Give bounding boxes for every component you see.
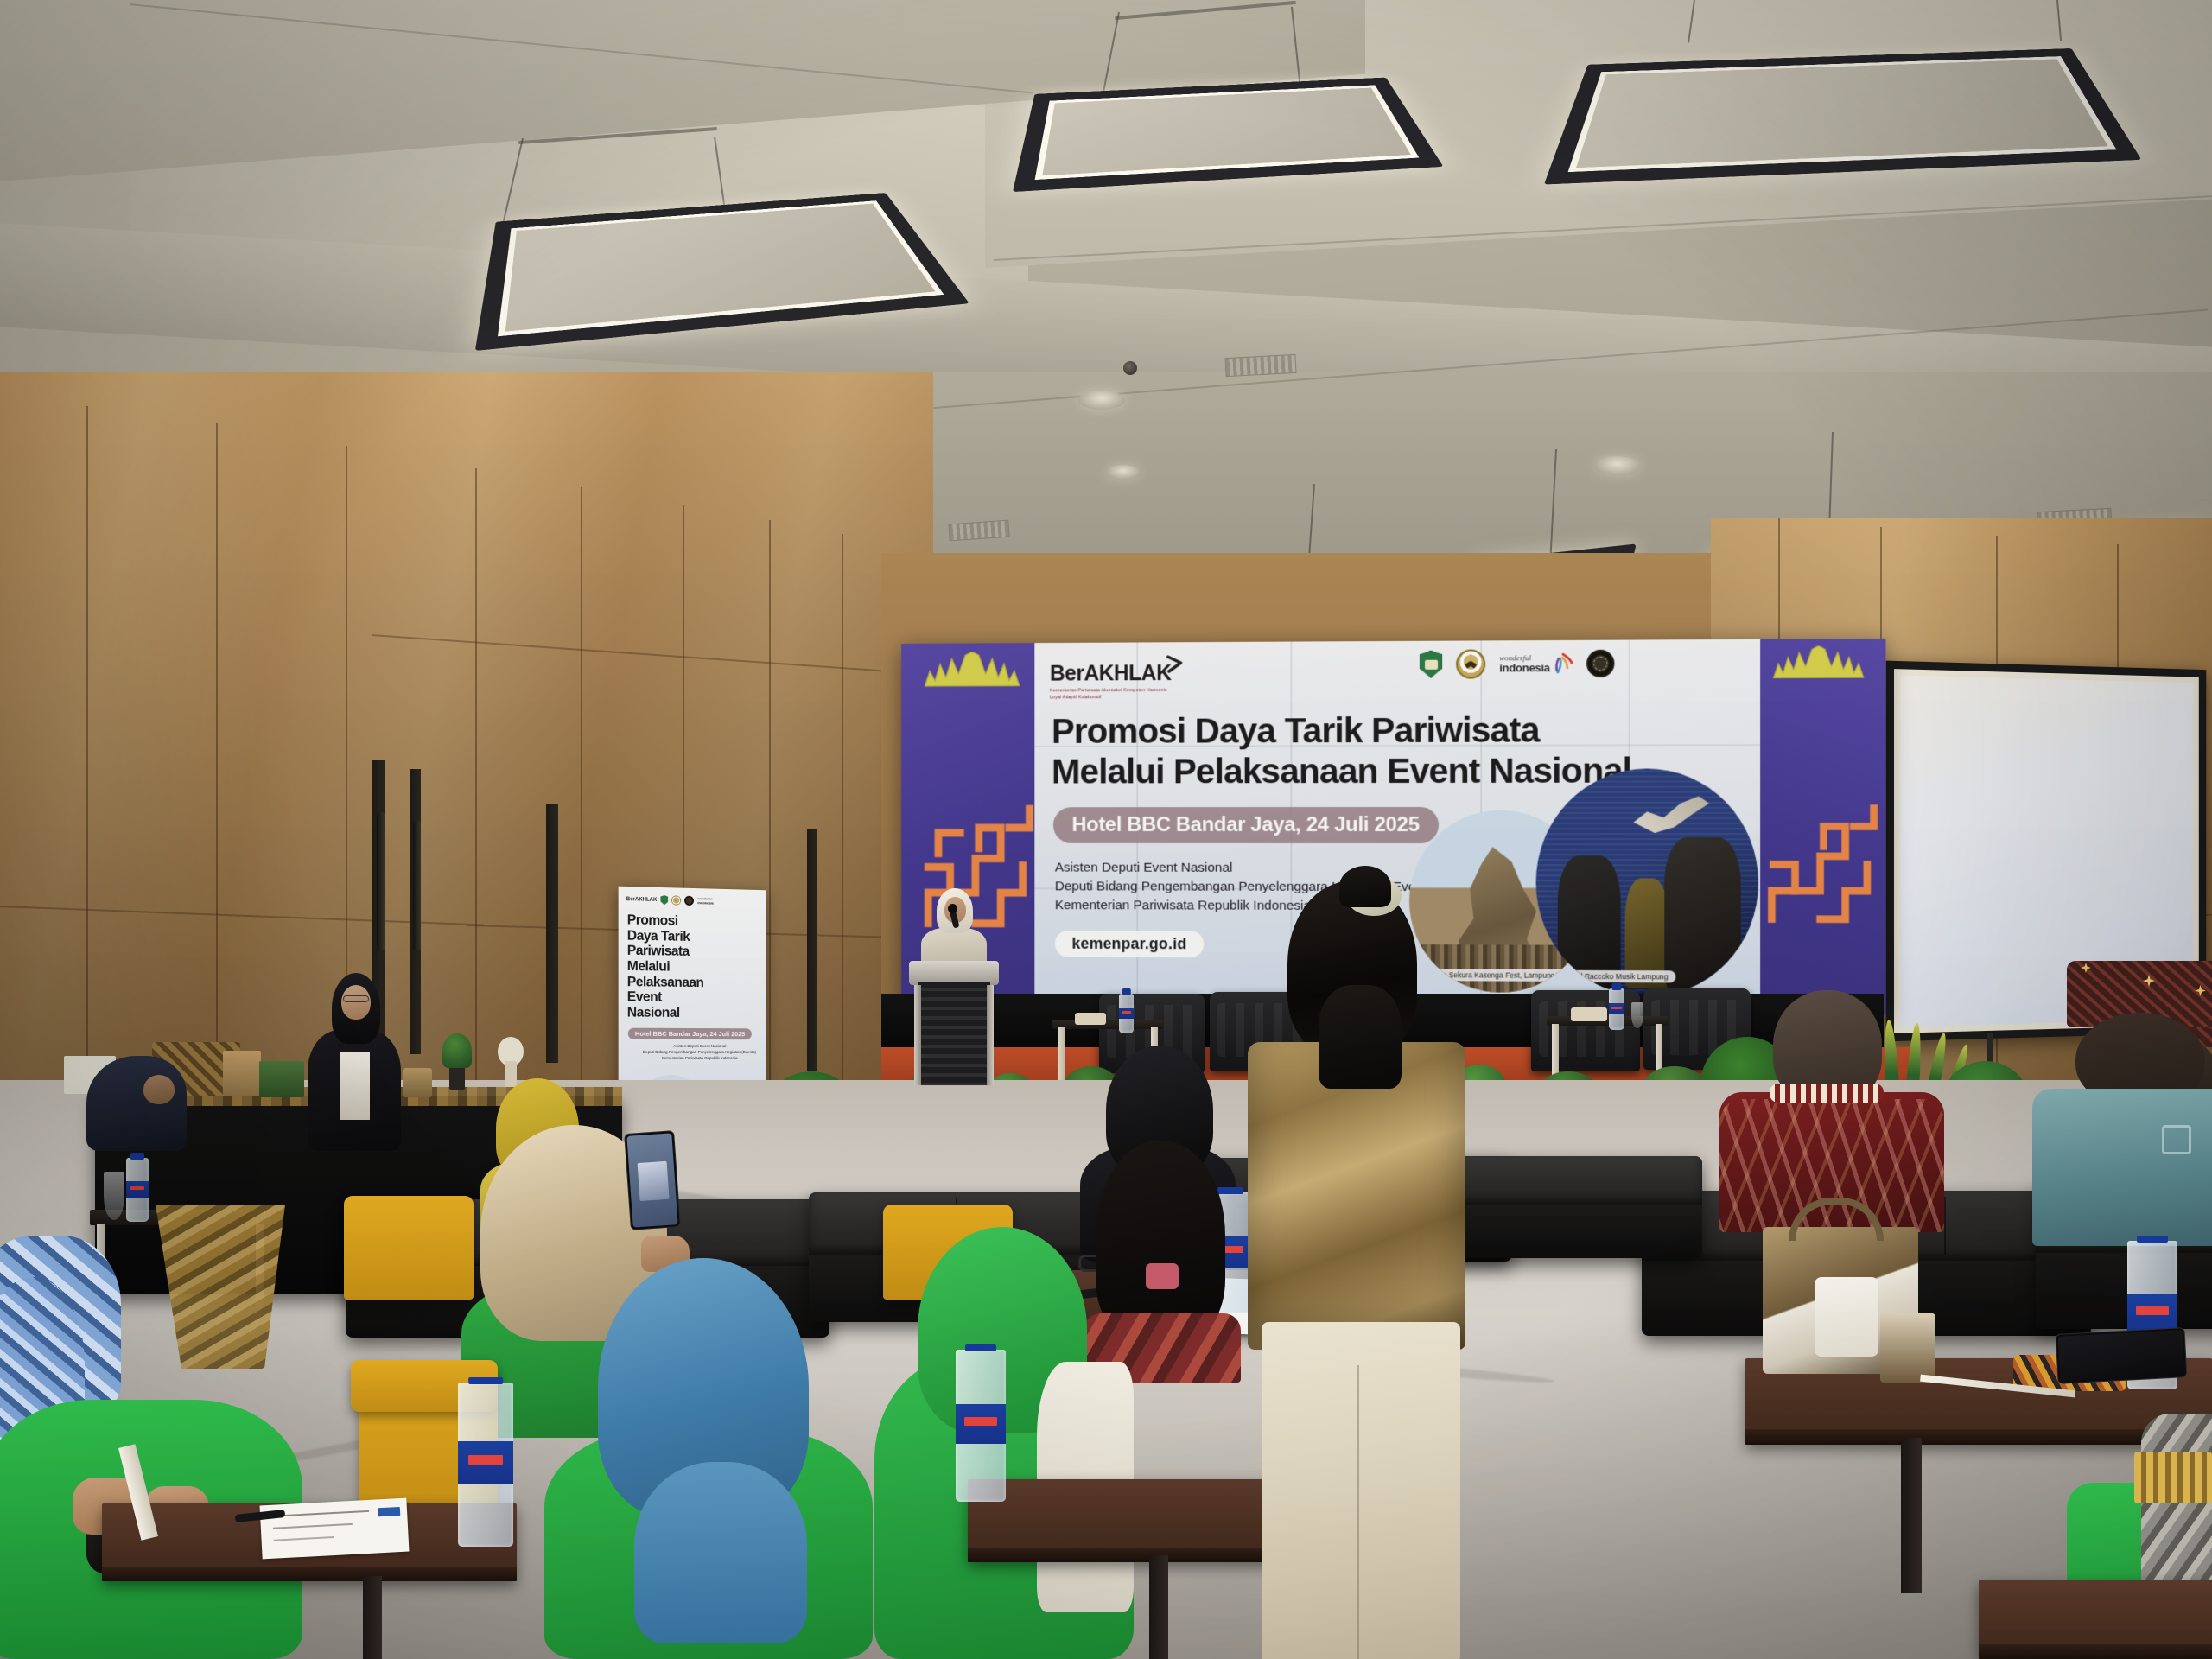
lampung-siger-crown-icon: [921, 652, 1022, 690]
banner-photo-raccoko-festival: Festival Raccoko Musik Lampung: [1536, 768, 1758, 997]
water-bottle[interactable]: [458, 1382, 513, 1547]
drinking-glass[interactable]: [104, 1172, 124, 1220]
wall-door-gap[interactable]: [546, 804, 558, 1063]
banner-title-line-1: Promosi Daya Tarik Pariwisata: [1052, 709, 1631, 751]
podium-body: [918, 982, 990, 1085]
registration-staff-bending: [86, 1039, 190, 1151]
attendee-teal-peci: [2032, 961, 2212, 1246]
ministry-seal-logo: [684, 896, 694, 906]
seminar-hall-photograph: BerAKHLAK Kementerian Pariwisata Akuntab…: [0, 0, 2212, 1659]
rollup-logo-row: BerAKHLAK wonderful indonesia: [626, 894, 714, 906]
recessed-downlight-icon: [1078, 391, 1125, 410]
water-bottle[interactable]: [1609, 988, 1624, 1030]
provincial-shield-logo: [1420, 651, 1442, 678]
berakhlak-logo: BerAKHLAK Kementerian Pariwisata Akuntab…: [1050, 661, 1171, 701]
trouser-crease: [1357, 1365, 1359, 1659]
notepad-paper[interactable]: [259, 1498, 409, 1560]
standing-woman-trousers: [1262, 1322, 1460, 1659]
wonderful-indonesia-bird-icon: [1554, 653, 1573, 674]
berakhlak-swoosh-icon: [1166, 655, 1184, 674]
wall-left-panel-seams: [0, 372, 933, 1149]
tapis-motif-icon: [1757, 792, 1882, 938]
shirt-emblem: [2162, 1125, 2191, 1154]
ministry-seal-logo: [1586, 650, 1614, 677]
attendee-maroon-batik: [1719, 990, 1944, 1232]
table-leg: [1149, 1555, 1168, 1659]
wonderful-indonesia-logo: wonderful indonesia: [697, 897, 713, 905]
rollup-title: Promosi Daya Tarik Pariwisata Melalui Pe…: [627, 912, 760, 1021]
smartphone-recording[interactable]: [624, 1130, 681, 1230]
drinking-glass[interactable]: [1631, 1002, 1643, 1028]
rollup-berakhlak-wordmark: BerAKHLAK: [626, 897, 658, 903]
gift-box[interactable]: [403, 1068, 432, 1097]
attendee-table: [1979, 1580, 2212, 1659]
recessed-downlight-icon: [1594, 456, 1641, 475]
snack-plate: [1075, 1013, 1106, 1025]
flower-vase: [449, 1065, 465, 1090]
hair-clip: [1146, 1263, 1179, 1289]
banner-purple-panel-right: [1753, 639, 1886, 1015]
table-leg: [363, 1576, 382, 1659]
yellow-chair[interactable]: [344, 1196, 474, 1300]
woven-item[interactable]: [2134, 1452, 2212, 1503]
standing-woman-hair-back: [1319, 985, 1402, 1089]
gift-box[interactable]: [259, 1061, 304, 1097]
banner-venue-pill: Hotel BBC Bandar Jaya, 24 Juli 2025: [1053, 807, 1439, 843]
teal-shirt: [2032, 1089, 2212, 1246]
wonderful-indonesia-bottom-word: indonesia: [1499, 662, 1549, 673]
table-plant: [442, 1033, 472, 1068]
provincial-shield-logo: [660, 895, 668, 905]
lampung-siger-crown-icon: [1769, 645, 1868, 681]
water-bottle[interactable]: [956, 1350, 1006, 1502]
berakhlak-wordmark: BerAKHLAK: [1050, 661, 1171, 685]
air-vent: [1224, 354, 1296, 377]
garuda-pancasila-logo: [671, 895, 681, 905]
staff-inner-shirt: [340, 1052, 370, 1120]
attendee-standing-bronze: [1236, 881, 1478, 1659]
podium-rail: [987, 985, 994, 1085]
smartphone[interactable]: [2056, 1327, 2188, 1384]
water-bottle[interactable]: [1119, 994, 1134, 1033]
garuda-pancasila-logo: [1456, 649, 1485, 678]
microphone-head-icon: [948, 904, 957, 913]
registration-staff: [302, 973, 406, 1151]
attendee-blue-hijab: [544, 1258, 873, 1659]
gift-box[interactable]: [223, 1051, 261, 1096]
snack-plate: [1571, 1007, 1607, 1021]
berakhlak-subtext: Kementerian Pariwisata Akuntabel Kompete…: [1050, 687, 1169, 702]
wall-door-gap[interactable]: [807, 829, 817, 1071]
shirt-collar: [1770, 1084, 1884, 1103]
rollup-organizer-lines: Asisten Deputi Event Nasional Deputi Bid…: [639, 1044, 760, 1062]
coffee-cup[interactable]: [1880, 1313, 1935, 1382]
banner-website-pill: kemenpar.go.id: [1055, 931, 1204, 957]
table-leg: [1901, 1438, 1922, 1593]
hair-bun: [1339, 866, 1391, 907]
eyeglasses-icon: [343, 995, 369, 1002]
rollup-venue-pill: Hotel BBC Bandar Jaya, 24 Juli 2025: [628, 1028, 752, 1040]
recessed-downlight-icon: [1106, 465, 1141, 480]
banner-photo-caption-2: Festival Raccoko Musik Lampung: [1549, 970, 1676, 983]
podium-rail: [914, 985, 921, 1085]
door-handle[interactable]: [413, 821, 421, 950]
wonderful-indonesia-logo: wonderful indonesia: [1499, 653, 1573, 674]
water-bottle[interactable]: [126, 1158, 149, 1222]
door-handle[interactable]: [377, 812, 385, 950]
sprinkler-head-icon: [1123, 361, 1137, 375]
banner-logo-row: wonderful indonesia: [1420, 649, 1614, 679]
